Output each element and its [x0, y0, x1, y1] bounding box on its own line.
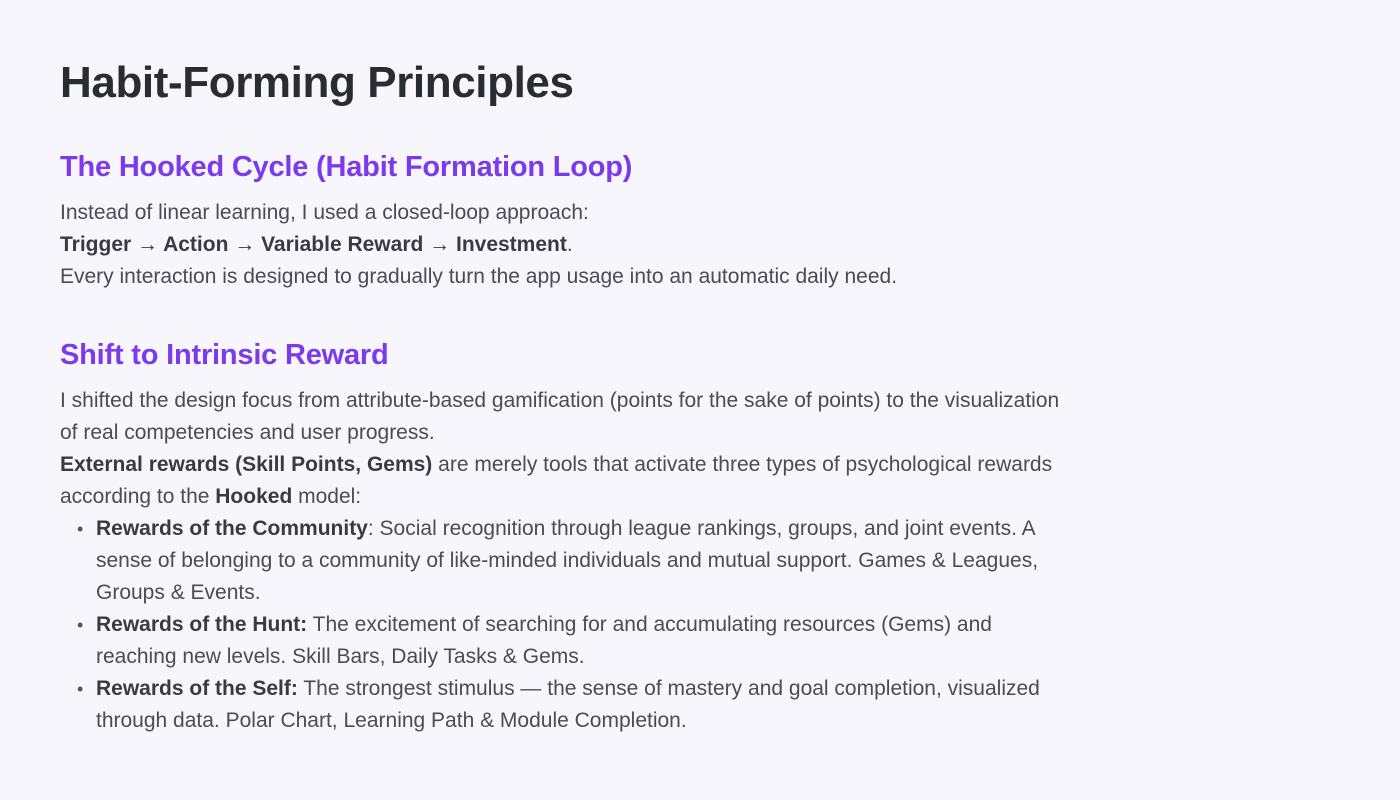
- list-item: • Rewards of the Self: The strongest sti…: [60, 673, 1060, 737]
- hooked-model-label: Hooked: [215, 485, 292, 508]
- reward-types-list: • Rewards of the Community: Social recog…: [60, 513, 1060, 737]
- section-heading-intrinsic-reward: Shift to Intrinsic Reward: [60, 338, 1060, 373]
- intrinsic-reward-paragraph-1: I shifted the design focus from attribut…: [60, 385, 1060, 449]
- hooked-cycle-intro: Instead of linear learning, I used a clo…: [60, 197, 1060, 229]
- bullet-icon: •: [77, 513, 83, 545]
- hooked-cycle-loop-period: .: [567, 233, 573, 256]
- hooked-cycle-outro: Every interaction is designed to gradual…: [60, 261, 1060, 293]
- intrinsic-reward-paragraph-2: External rewards (Skill Points, Gems) ar…: [60, 449, 1060, 513]
- document-page: Habit-Forming Principles The Hooked Cycl…: [0, 0, 1400, 800]
- hooked-cycle-loop-steps: Trigger → Action → Variable Reward → Inv…: [60, 233, 567, 256]
- document-content: Habit-Forming Principles The Hooked Cycl…: [60, 58, 1060, 737]
- list-item-label: Rewards of the Self:: [96, 677, 298, 700]
- section-intrinsic-reward: Shift to Intrinsic Reward I shifted the …: [60, 338, 1060, 737]
- section-heading-hooked-cycle: The Hooked Cycle (Habit Formation Loop): [60, 150, 1060, 185]
- list-item: • Rewards of the Hunt: The excitement of…: [60, 609, 1060, 673]
- list-item-label: Rewards of the Community: [96, 517, 368, 540]
- external-rewards-label: External rewards (Skill Points, Gems): [60, 453, 432, 476]
- list-item: • Rewards of the Community: Social recog…: [60, 513, 1060, 609]
- page-title: Habit-Forming Principles: [60, 58, 1060, 107]
- hooked-cycle-loop: Trigger → Action → Variable Reward → Inv…: [60, 229, 1060, 261]
- section-hooked-cycle: The Hooked Cycle (Habit Formation Loop) …: [60, 150, 1060, 293]
- hooked-model-tail: model:: [292, 485, 361, 508]
- list-item-label: Rewards of the Hunt:: [96, 613, 307, 636]
- bullet-icon: •: [77, 673, 83, 705]
- bullet-icon: •: [77, 609, 83, 641]
